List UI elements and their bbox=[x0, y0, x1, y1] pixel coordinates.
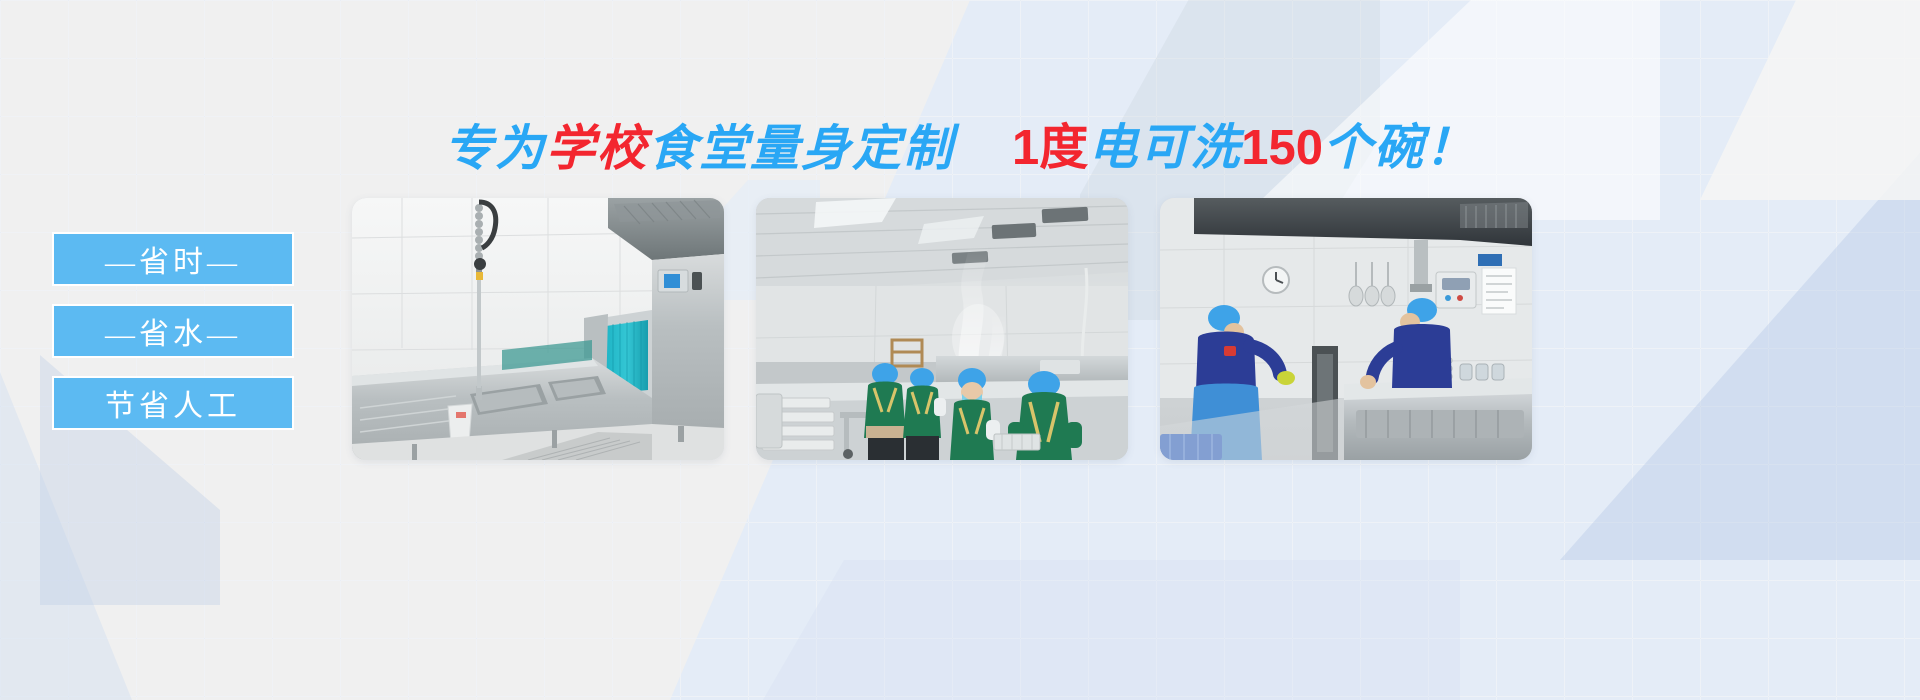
feature-list: —省时— —省水— 节省人工 bbox=[52, 232, 294, 430]
feature-box-save-water: —省水— bbox=[52, 304, 294, 358]
headline-left: 专为学校食堂量身定制 bbox=[444, 124, 954, 173]
photo-1-illustration bbox=[352, 198, 724, 460]
feature-box-save-labor: 节省人工 bbox=[52, 376, 294, 430]
headline-right-seg4: 个碗！ bbox=[1323, 123, 1476, 172]
headline-right-seg3: 150 bbox=[1241, 124, 1323, 173]
photo-kitchen-sink-dishwasher bbox=[352, 198, 724, 460]
photo-gallery bbox=[352, 198, 1532, 460]
headline-right: 1度电可洗150个碗！ bbox=[1012, 123, 1476, 173]
photo-canteen-staff-washing-line bbox=[756, 198, 1128, 460]
photo-staff-loading-dish-racks bbox=[1160, 198, 1532, 460]
photo-3-illustration bbox=[1160, 198, 1532, 460]
feature-box-save-time: —省时— bbox=[52, 232, 294, 286]
headline-right-seg1: 1度 bbox=[1012, 124, 1088, 173]
headline-left-seg1: 专为 bbox=[444, 124, 546, 173]
promo-banner: 专为学校食堂量身定制 1度电可洗150个碗！ —省时— —省水— 节省人工 bbox=[0, 0, 1920, 700]
photo-2-illustration bbox=[756, 198, 1128, 460]
headline-right-seg2: 电可洗 bbox=[1088, 123, 1241, 172]
headline: 专为学校食堂量身定制 1度电可洗150个碗！ bbox=[0, 108, 1920, 188]
headline-left-seg3: 食堂量身定制 bbox=[648, 124, 954, 173]
headline-left-seg2: 学校 bbox=[546, 124, 648, 173]
